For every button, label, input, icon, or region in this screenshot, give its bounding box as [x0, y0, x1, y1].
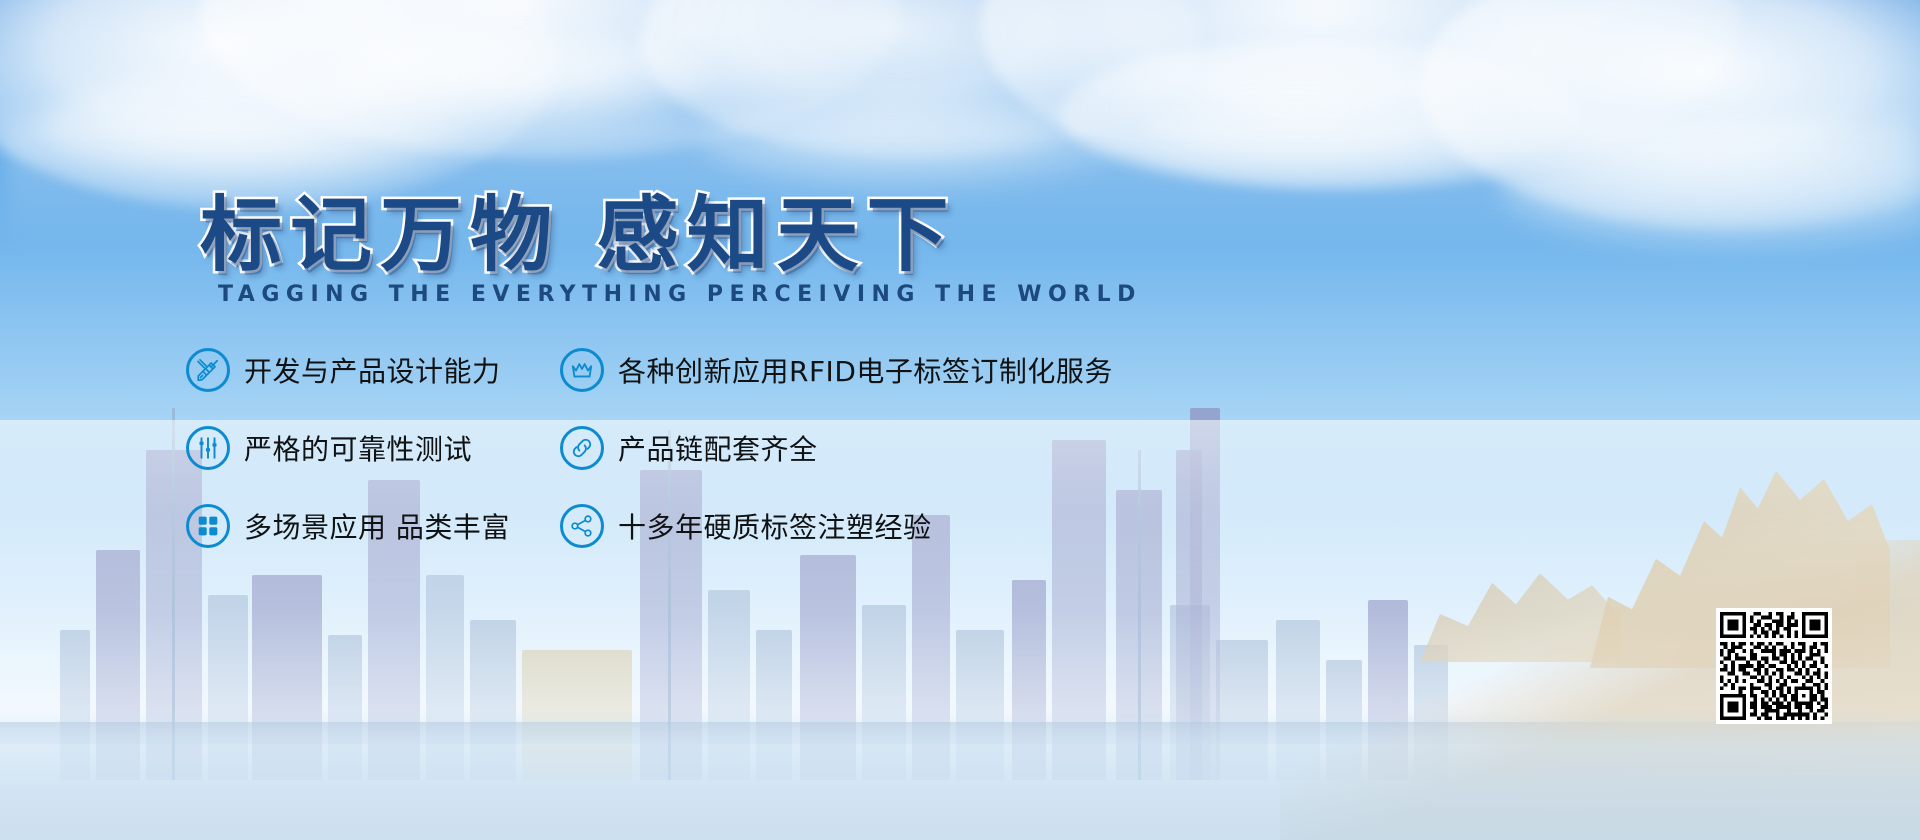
feature-label: 开发与产品设计能力 [244, 350, 501, 390]
feature-item-molding-experience: 十多年硬质标签注塑经验 [536, 504, 1260, 548]
qr-code[interactable] [1716, 608, 1832, 724]
pencil-ruler-icon [186, 348, 230, 392]
feature-label: 多场景应用 品类丰富 [244, 506, 510, 546]
link-icon [560, 426, 604, 470]
feature-list: 开发与产品设计能力 各种创新应用RFID电子标签订制化服务 [186, 348, 1286, 582]
feature-item-rfid-customization: 各种创新应用RFID电子标签订制化服务 [536, 348, 1260, 392]
page-subtitle: TAGGING THE EVERYTHING PERCEIVING THE WO… [218, 282, 1142, 307]
feature-item-development: 开发与产品设计能力 [186, 348, 536, 392]
qr-code-graphic [1720, 612, 1828, 720]
feature-label: 严格的可靠性测试 [244, 428, 472, 468]
banner-content: 标记万物 感知天下 TAGGING THE EVERYTHING PERCEIV… [0, 0, 1920, 840]
feature-label: 各种创新应用RFID电子标签订制化服务 [618, 350, 1113, 390]
equalizer-icon [186, 426, 230, 470]
feature-label: 产品链配套齐全 [618, 428, 818, 468]
feature-row: 严格的可靠性测试 产品链配套齐全 [186, 426, 1286, 504]
feature-row: 开发与产品设计能力 各种创新应用RFID电子标签订制化服务 [186, 348, 1286, 426]
feature-item-multi-scenario: 多场景应用 品类丰富 [186, 504, 536, 548]
grid-icon [186, 504, 230, 548]
promo-banner: 标记万物 感知天下 TAGGING THE EVERYTHING PERCEIV… [0, 0, 1920, 840]
feature-label: 十多年硬质标签注塑经验 [618, 506, 932, 546]
share-nodes-icon [560, 504, 604, 548]
page-title: 标记万物 感知天下 [200, 168, 957, 287]
feature-item-reliability-testing: 严格的可靠性测试 [186, 426, 536, 470]
feature-item-product-chain: 产品链配套齐全 [536, 426, 1260, 470]
feature-row: 多场景应用 品类丰富 十多年硬质标签注塑经验 [186, 504, 1286, 582]
crown-icon [560, 348, 604, 392]
